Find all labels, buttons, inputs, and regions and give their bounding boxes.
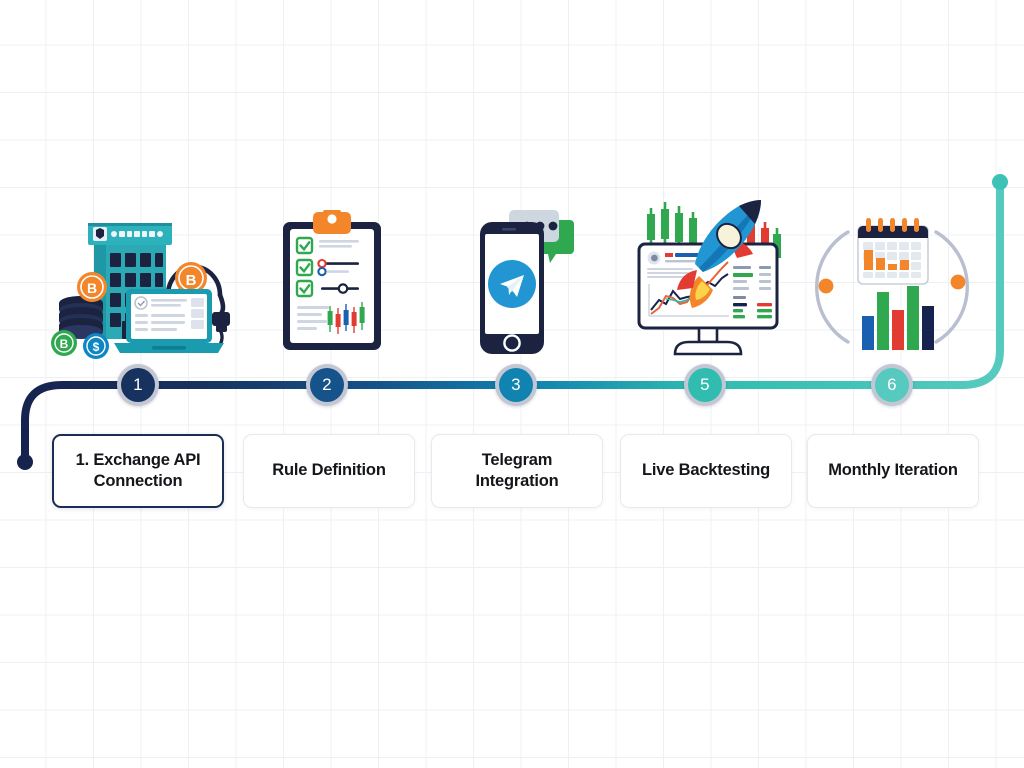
timeline-end-dot xyxy=(992,174,1008,190)
timeline-node-3-number: 3 xyxy=(499,368,533,402)
timeline-node-5-number: 5 xyxy=(688,368,722,402)
timeline-node-1[interactable]: 1 xyxy=(117,364,159,406)
step-card-label: Rule Definition xyxy=(272,460,385,481)
coin-bitcoin-orange: B xyxy=(77,272,107,302)
refresh-dot-right xyxy=(951,275,966,290)
refresh-dot-left xyxy=(819,279,834,294)
step-card-monthly-iteration[interactable]: Monthly Iteration xyxy=(807,434,979,508)
timeline-node-6-number: 6 xyxy=(875,368,909,402)
timeline-node-5[interactable]: 5 xyxy=(684,364,726,406)
timeline-node-2[interactable]: 2 xyxy=(306,364,348,406)
illustration-live-backtesting xyxy=(625,196,790,360)
timeline-node-2-number: 2 xyxy=(310,368,344,402)
coin-blue: $ xyxy=(83,333,109,359)
svg-text:B: B xyxy=(87,280,97,296)
svg-text:B: B xyxy=(186,272,197,289)
timeline-node-1-number: 1 xyxy=(121,368,155,402)
step-card-telegram-integration[interactable]: Telegram Integration xyxy=(431,434,603,508)
step-card-label: Monthly Iteration xyxy=(828,460,958,481)
laptop xyxy=(114,289,224,353)
step-card-rule-definition[interactable]: Rule Definition xyxy=(243,434,415,508)
svg-text:B: B xyxy=(60,337,69,351)
illustration-rule-definition xyxy=(277,210,387,360)
infographic-canvas: 1 2 3 5 6 1. Exchange API Connection Rul… xyxy=(0,0,1024,768)
timeline-node-3[interactable]: 3 xyxy=(495,364,537,406)
svg-text:$: $ xyxy=(93,340,100,354)
bar-chart xyxy=(862,286,934,350)
illustration-telegram-integration xyxy=(466,202,576,360)
step-card-exchange-api-connection[interactable]: 1. Exchange API Connection xyxy=(52,434,224,508)
step-card-live-backtesting[interactable]: Live Backtesting xyxy=(620,434,792,508)
illustration-monthly-iteration xyxy=(806,214,978,360)
step-card-label: Telegram Integration xyxy=(440,450,594,492)
illustration-exchange-api-connection: B B $ B xyxy=(48,215,238,360)
coin-green: B xyxy=(51,330,77,356)
step-card-label: 1. Exchange API Connection xyxy=(62,450,214,492)
timeline-node-6[interactable]: 6 xyxy=(871,364,913,406)
timeline-start-dot xyxy=(17,454,33,470)
step-card-label: Live Backtesting xyxy=(642,460,770,481)
